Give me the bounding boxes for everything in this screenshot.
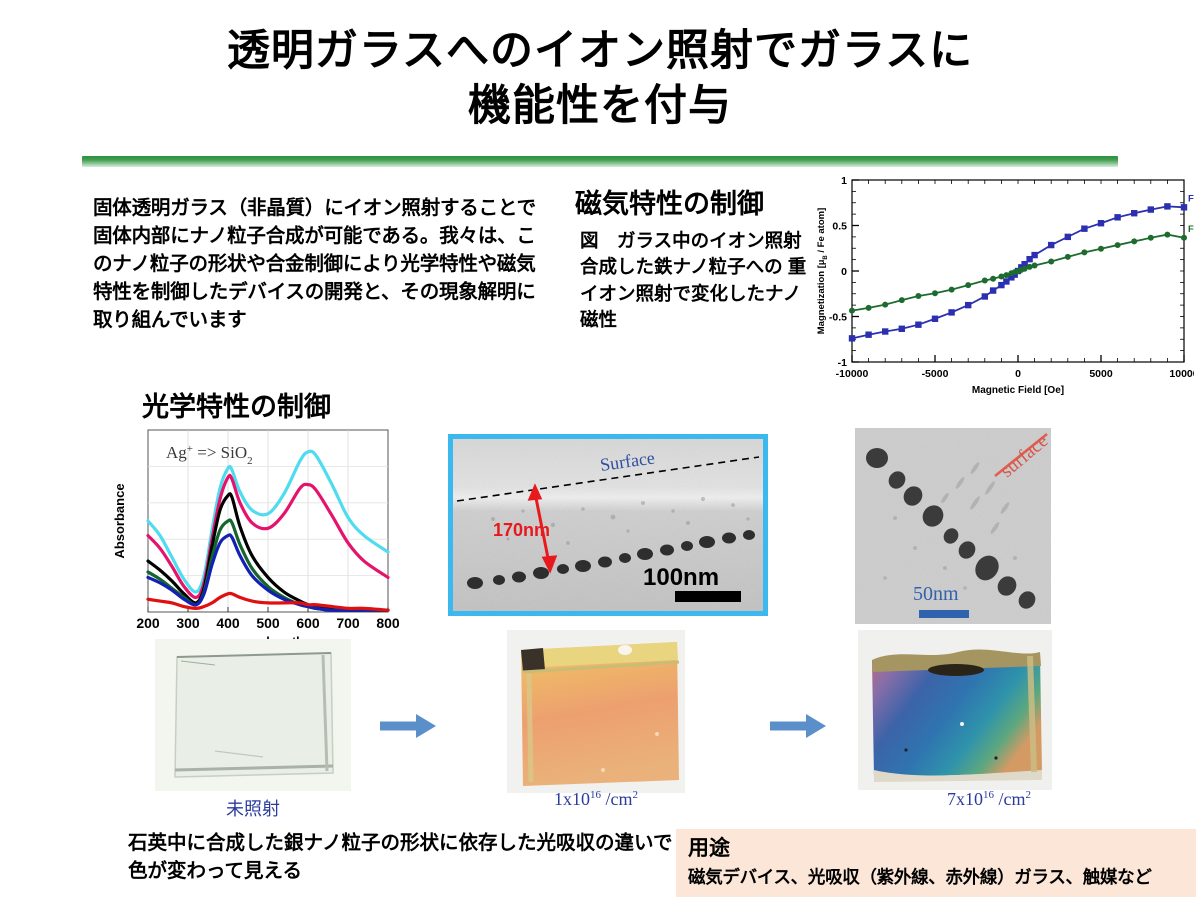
arrow-2-svg <box>768 710 828 742</box>
mag-xtick-0: -10000 <box>836 368 869 380</box>
dose-unit-exp-right: 2 <box>1026 789 1032 801</box>
sample-caption-unirradiated: 未照射 <box>155 795 351 821</box>
mag-xlabel: Magnetic Field [Oe] <box>972 385 1064 396</box>
abs-xtick-5: 700 <box>336 615 360 631</box>
sample-photo-7e16 <box>858 630 1052 790</box>
mag-legend-0: Fe7e16 <box>1188 193 1194 204</box>
mag-xtick-3: 5000 <box>1089 368 1113 380</box>
dose-unit-exp-middle: 2 <box>633 789 639 801</box>
mag-legend-1: Fe7e16+Au5e14 <box>1188 224 1194 235</box>
abs-xtick-0: 200 <box>136 615 160 631</box>
mag-xtick-1: -5000 <box>922 368 949 380</box>
depth-label: 170nm <box>493 520 550 540</box>
dose-exp-right: 16 <box>983 789 994 801</box>
sample-photo-1-svg <box>155 639 351 791</box>
scalebar-50nm <box>919 610 969 618</box>
tem-image-right: surface 50nm <box>855 428 1051 624</box>
page-title: 透明ガラスへのイオン照射でガラスに 機能性を付与 <box>0 24 1200 133</box>
sample-photo-1e16 <box>507 630 685 793</box>
sample-photo-unirradiated <box>155 639 351 791</box>
abs-xtick-6: 800 <box>376 615 400 631</box>
conclusion-text: 石英中に合成した銀ナノ粒子の形状に依存した光吸収の違いで色が変わって見える <box>128 830 673 885</box>
arrow-2 <box>768 710 828 747</box>
mag-ytick-2: 0 <box>841 266 847 278</box>
tem-right-svg: surface 50nm <box>855 428 1051 624</box>
magnetic-figure-caption: 図 ガラス中のイオン照射合成した鉄ナノ粒子への 重イオン照射で変化したナノ磁性 <box>580 228 810 333</box>
absorbance-chart-svg: 200300400500600700800wave lengthAbsorban… <box>110 424 400 659</box>
dose-unit-right: /cm <box>999 789 1026 809</box>
abs-xtick-3: 500 <box>256 615 280 631</box>
scalebar-label-100nm: 100nm <box>643 564 719 591</box>
applications-body: 磁気デバイス、光吸収（紫外線、赤外線）ガラス、触媒など <box>688 864 1193 889</box>
abs-xtick-4: 600 <box>296 615 320 631</box>
dose-unit-middle: /cm <box>606 789 633 809</box>
magnetization-chart-svg: -10000-50000500010000-1-0.500.51Magnetic… <box>812 166 1194 408</box>
mag-ytick-1: -0.5 <box>829 312 847 324</box>
tem-center-svg: 170nm Surface 100nm <box>453 439 763 611</box>
scalebar-label-50nm: 50nm <box>913 583 959 605</box>
mag-xtick-2: 0 <box>1015 368 1021 380</box>
abs-xtick-2: 400 <box>216 615 240 631</box>
applications-title: 用途 <box>688 832 730 862</box>
sample-photo-2-svg <box>507 630 685 793</box>
mag-ytick-0: -1 <box>838 357 847 369</box>
sample-caption-7e16: 7x1016 /cm2 <box>890 789 1088 810</box>
sample-photo-3-svg <box>858 630 1052 790</box>
magnetic-section-heading: 磁気特性の制御 <box>575 182 764 221</box>
abs-xtick-1: 300 <box>176 615 200 631</box>
optical-section-heading: 光学特性の制御 <box>142 385 331 424</box>
absorbance-chart: 200300400500600700800wave lengthAbsorban… <box>110 424 400 659</box>
title-line-1: 透明ガラスへのイオン照射でガラスに <box>0 24 1200 79</box>
mag-xtick-4: 10000 <box>1169 368 1194 380</box>
slide-root: 透明ガラスへのイオン照射でガラスに 機能性を付与 固体透明ガラス（非晶質）にイオ… <box>0 0 1200 900</box>
mag-ytick-4: 1 <box>841 175 847 187</box>
intro-paragraph: 固体透明ガラス（非晶質）にイオン照射することで固体内部にナノ粒子合成が可能である… <box>93 194 541 334</box>
magnetization-chart: -10000-50000500010000-1-0.500.51Magnetic… <box>812 166 1194 408</box>
mag-ytick-3: 0.5 <box>832 221 847 233</box>
dose-exp-middle: 16 <box>590 789 601 801</box>
tem-image-center: 170nm Surface 100nm <box>448 434 768 616</box>
abs-ylabel: Absorbance <box>112 483 127 558</box>
dose-base-middle: 1x10 <box>554 789 590 809</box>
arrow-1-svg <box>378 710 438 742</box>
arrow-1 <box>378 710 438 747</box>
sample-caption-1e16: 1x1016 /cm2 <box>497 789 695 810</box>
mag-ylabel: Magnetization [μB / Fe atom] <box>816 208 829 335</box>
title-line-2: 機能性を付与 <box>0 79 1200 134</box>
dose-base-right: 7x10 <box>947 789 983 809</box>
scalebar-100nm <box>675 591 741 602</box>
